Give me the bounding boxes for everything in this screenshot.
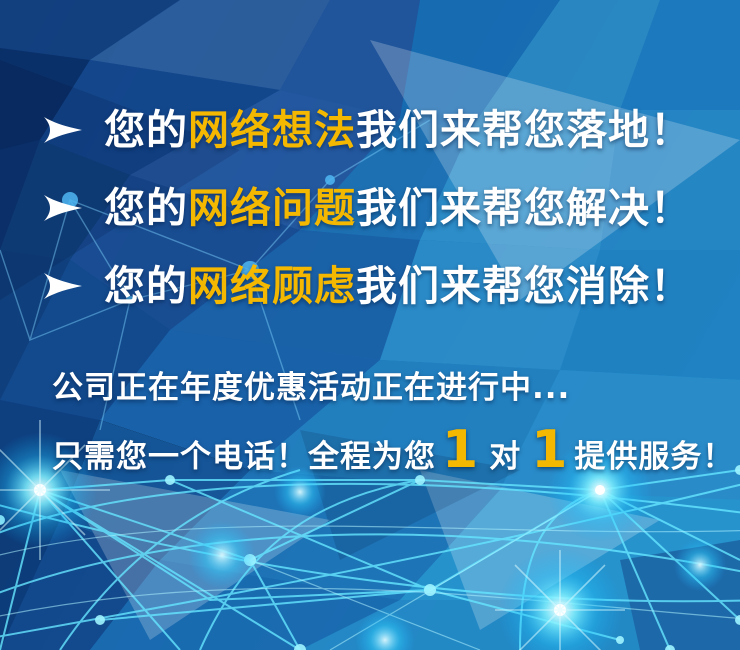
headline-text-2: 您的网络问题我们来帮您解决！ [104,184,692,232]
headline-row-3: 您的网络顾虑我们来帮您消除！ [42,262,692,310]
headline-3-prefix: 您的 [104,262,188,310]
promotion-text: 公司正在年度优惠活动正在进行中... [52,362,570,407]
headline-1-highlight: 网络想法 [188,106,356,154]
headline-3-suffix: 我们来帮您消除！ [356,262,692,310]
headline-1-suffix: 我们来帮您落地！ [356,106,692,154]
arrow-right-icon [42,113,84,147]
headline-row-2: 您的网络问题我们来帮您解决！ [42,184,692,232]
headline-2-highlight: 网络问题 [188,184,356,232]
service-number-second: 1 [525,430,574,472]
service-text: 只需您一个电话！全程为您 1 对 1 提供服务！ [52,430,734,476]
promo-banner: 您的网络想法我们来帮您落地！ 您的网络问题我们来帮您解决！ 您的网络顾虑我们来帮… [0,0,740,650]
headline-text-1: 您的网络想法我们来帮您落地！ [104,106,692,154]
service-number-first: 1 [436,430,485,472]
headline-1-prefix: 您的 [104,106,188,154]
service-text-middle: 对 [485,431,525,476]
headline-row-1: 您的网络想法我们来帮您落地！ [42,106,692,154]
banner-content: 您的网络想法我们来帮您落地！ 您的网络问题我们来帮您解决！ 您的网络顾虑我们来帮… [0,0,740,650]
service-text-part2: 提供服务！ [574,431,734,476]
headline-3-highlight: 网络顾虑 [188,262,356,310]
arrow-right-icon [42,191,84,225]
arrow-right-icon [42,269,84,303]
headline-text-3: 您的网络顾虑我们来帮您消除！ [104,262,692,310]
headline-2-suffix: 我们来帮您解决！ [356,184,692,232]
service-text-part1: 只需您一个电话！全程为您 [52,431,436,476]
headline-2-prefix: 您的 [104,184,188,232]
